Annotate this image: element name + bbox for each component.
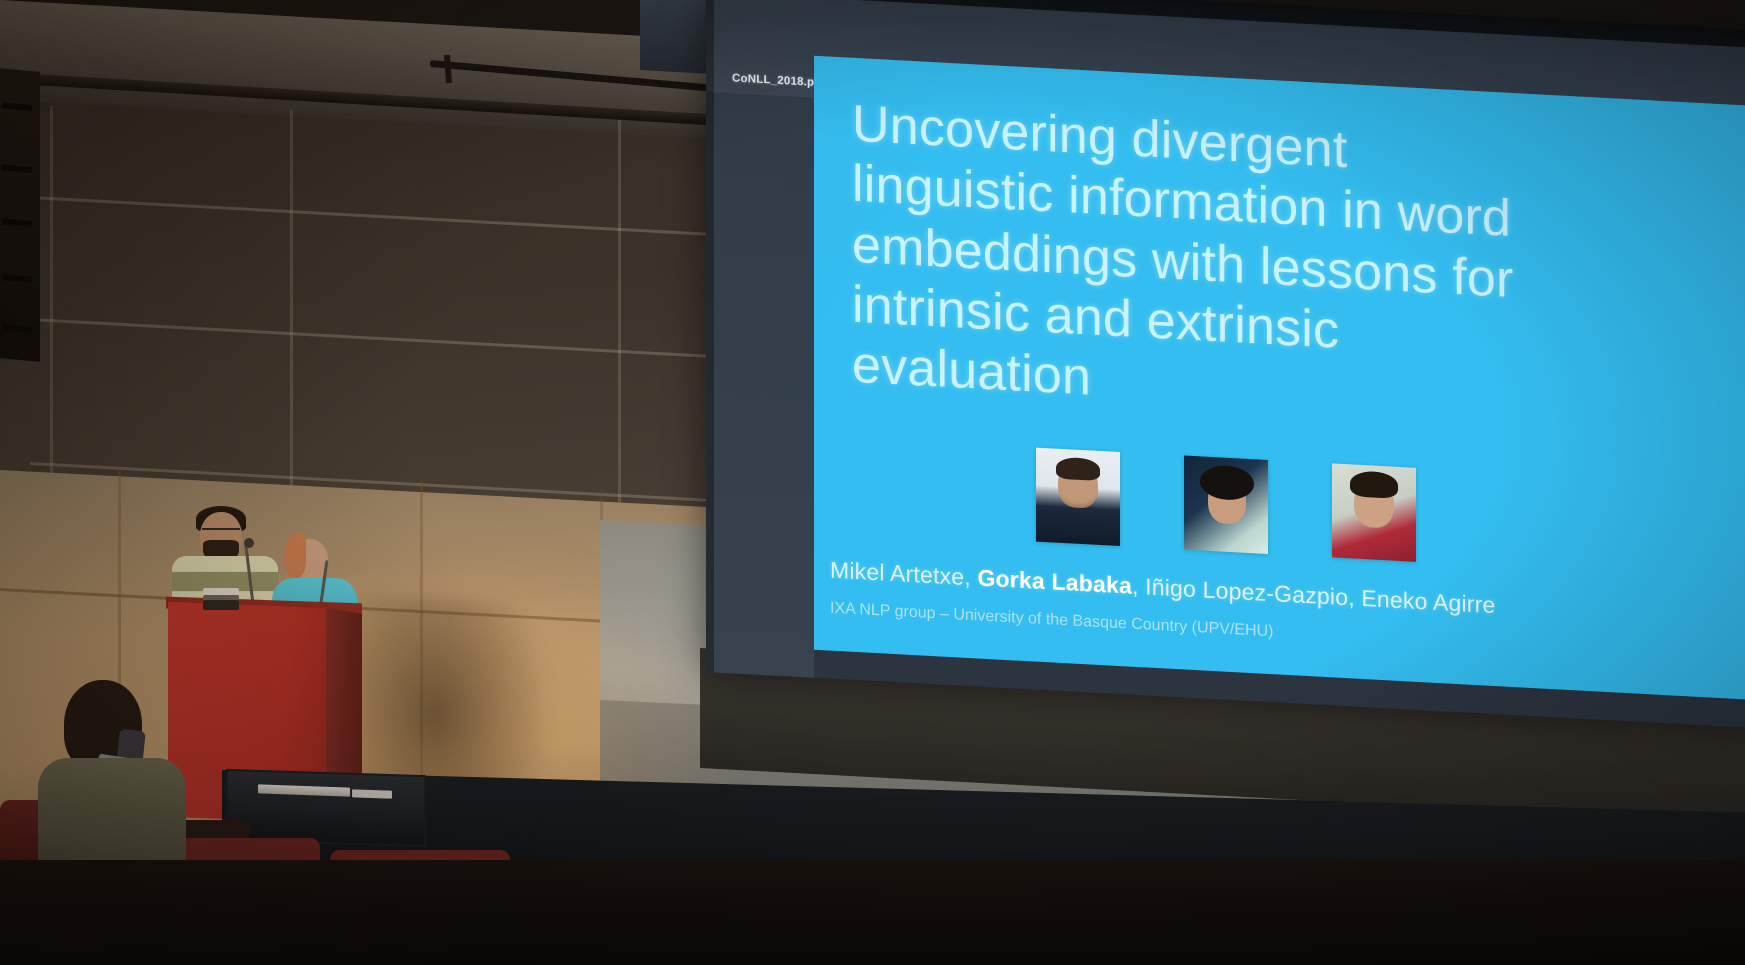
presentation-slide: Uncovering divergent linguistic informat…	[814, 56, 1745, 701]
authors-prefix: Mikel Artetxe,	[830, 557, 977, 591]
authors-highlight: Gorka Labaka	[977, 564, 1132, 598]
wall-panel-line	[290, 110, 293, 510]
slide-title: Uncovering divergent linguistic informat…	[852, 94, 1736, 443]
wall-panel-line	[50, 106, 53, 526]
wall-panel-line	[618, 120, 621, 520]
screen-left-rim	[706, 0, 714, 672]
author-portrait-row	[1036, 448, 1416, 562]
presenter-right-hair-side	[284, 534, 306, 578]
conference-photo-scene: CoNLL_2018.pdf — Learning bilingual word…	[0, 0, 1745, 965]
foreground-floor	[0, 860, 1745, 965]
projection-screen: CoNLL_2018.pdf — Learning bilingual word…	[706, 0, 1745, 728]
presenter-badge	[203, 588, 239, 610]
ceiling-speaker	[0, 68, 40, 361]
authors-suffix: , Iñigo Lopez-Gazpio, Eneko Agirre	[1132, 573, 1496, 618]
portrait-mikel-artetxe	[1036, 448, 1120, 546]
audience-member-body	[38, 758, 186, 868]
presenter-left-glasses	[202, 528, 240, 535]
portrait-gorka-labaka	[1184, 455, 1268, 553]
microphone-left-capsule	[244, 538, 254, 548]
monitor	[226, 769, 426, 847]
slide-affiliation: IXA NLP group – University of the Basque…	[830, 600, 1273, 642]
keyboard-secondary	[352, 789, 392, 798]
portrait-eneko-agirre	[1332, 463, 1416, 561]
pdf-viewer-gutter	[706, 0, 814, 678]
